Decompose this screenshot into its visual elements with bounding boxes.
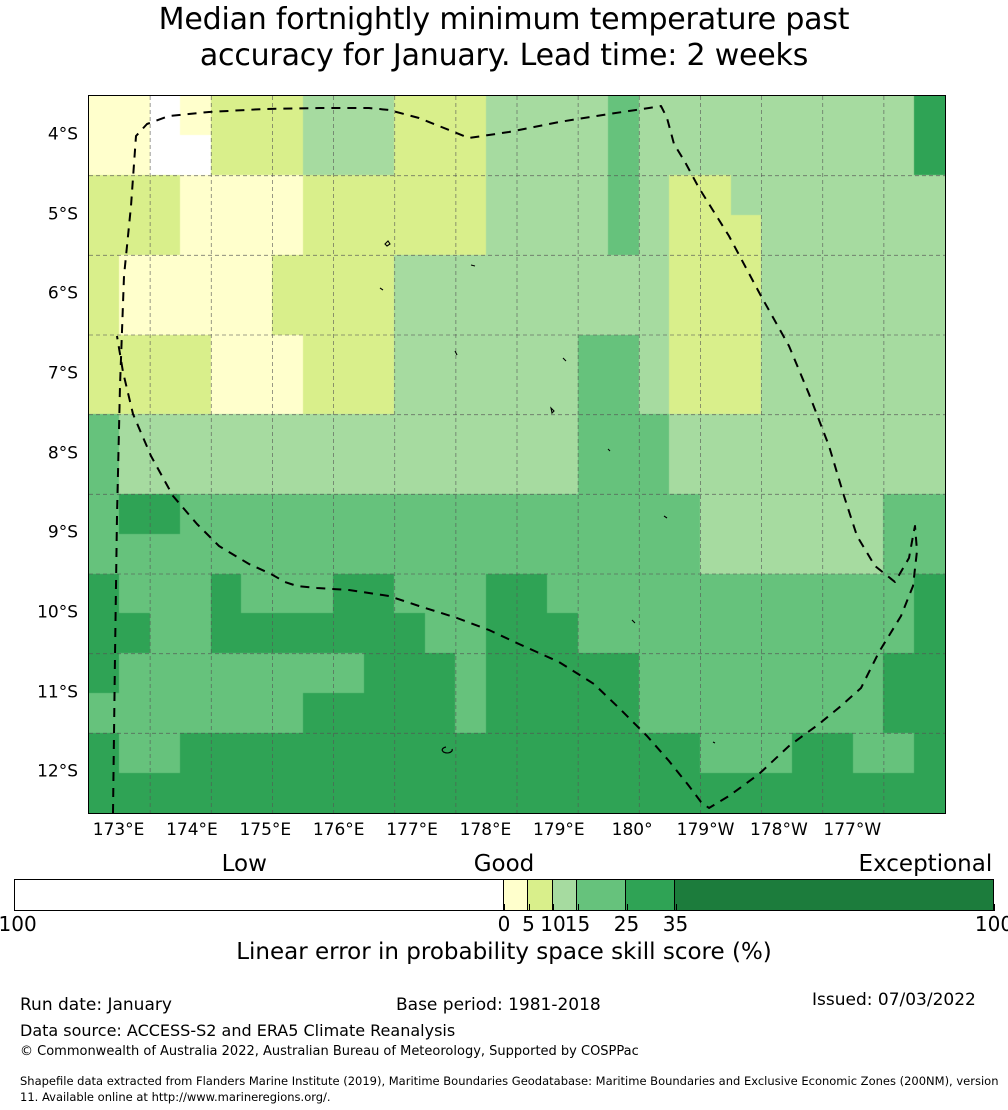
x-tick-label: 177°E: [386, 820, 438, 840]
x-tick-label: 179°E: [533, 820, 585, 840]
x-tick-label: 176°E: [313, 820, 365, 840]
colorbar-quality-labels: LowGoodExceptional: [0, 851, 1008, 877]
colorbar-tick-mark: [529, 904, 530, 911]
title-line-1: Median fortnightly minimum temperature p…: [0, 2, 1008, 38]
x-tick-label: 178°W: [750, 820, 808, 840]
y-tick-label: 11°S: [37, 684, 78, 701]
colorbar-axis-label: Linear error in probability space skill …: [0, 938, 1008, 966]
colorbar-tick: 5: [522, 913, 535, 935]
copyright-text: © Commonwealth of Australia 2022, Austra…: [20, 1044, 639, 1059]
run-date-text: Run date: January: [20, 995, 172, 1015]
x-tick-label: 180°: [612, 820, 653, 840]
colorbar-tick-labels: -1000510152535100: [0, 911, 1008, 935]
map-plot-area: [88, 95, 946, 814]
y-tick-label: 10°S: [37, 604, 78, 621]
x-tick-label: 178°E: [460, 820, 512, 840]
colorbar-tick-mark: [553, 904, 554, 911]
y-tick-label: 6°S: [48, 286, 78, 303]
skill-score-heatmap: [89, 96, 945, 813]
colorbar-tick-mark: [994, 904, 995, 911]
title-line-2: accuracy for January. Lead time: 2 weeks: [0, 38, 1008, 74]
colorbar-quality-label: Good: [474, 851, 535, 877]
colorbar-tick-mark: [578, 904, 579, 911]
y-tick-label: 4°S: [48, 126, 78, 143]
colorbar-swatch: [553, 880, 577, 910]
colorbar-quality-label: Exceptional: [859, 851, 993, 877]
colorbar-swatch: [528, 880, 552, 910]
colorbar-tick-mark: [676, 904, 677, 911]
colorbar-swatch: [675, 880, 993, 910]
colorbar-swatch: [626, 880, 675, 910]
y-tick-label: 5°S: [48, 206, 78, 223]
x-tick-label: 174°E: [166, 820, 218, 840]
data-source-text: Data source: ACCESS-S2 and ERA5 Climate …: [20, 1021, 455, 1040]
colorbar-swatch: [577, 880, 626, 910]
colorbar-tick-mark: [14, 904, 15, 911]
colorbar-tick: -100: [0, 913, 37, 935]
shapefile-credit-text: Shapefile data extracted from Flanders M…: [20, 1073, 1000, 1105]
colorbar-tick: 15: [565, 913, 590, 935]
colorbar-swatch: [504, 880, 528, 910]
colorbar-tick: 25: [614, 913, 639, 935]
base-period-text: Base period: 1981-2018: [396, 995, 601, 1015]
x-tick-label: 179°W: [677, 820, 735, 840]
colorbar-tick: 10: [540, 913, 565, 935]
colorbar-quality-label: Low: [222, 851, 267, 877]
x-tick-label: 173°E: [93, 820, 145, 840]
y-tick-label: 9°S: [48, 525, 78, 542]
chart-title: Median fortnightly minimum temperature p…: [0, 2, 1008, 74]
y-tick-label: 8°S: [48, 445, 78, 462]
colorbar-tick: 35: [663, 913, 688, 935]
issued-date-text: Issued: 07/03/2022: [812, 990, 976, 1010]
colorbar-tick-mark: [627, 904, 628, 911]
y-tick-label: 12°S: [37, 764, 78, 781]
colorbar-tick: 100: [975, 913, 1008, 935]
x-tick-label: 177°W: [823, 820, 881, 840]
colorbar-swatch: [15, 880, 504, 910]
colorbar-tick: 0: [498, 913, 511, 935]
colorbar-tick-mark: [504, 904, 505, 911]
x-tick-label: 175°E: [239, 820, 291, 840]
y-tick-label: 7°S: [48, 365, 78, 382]
